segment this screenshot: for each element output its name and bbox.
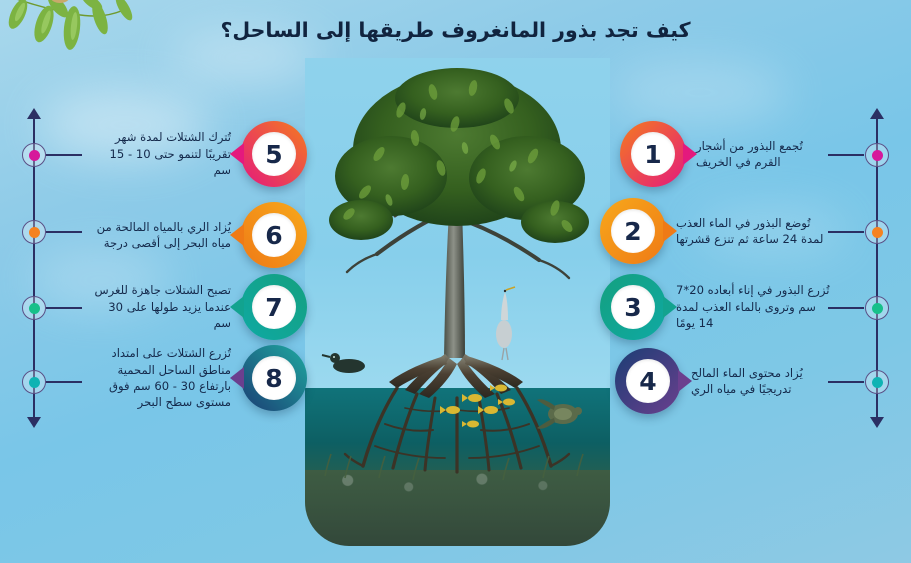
badge-tail — [663, 296, 677, 318]
step-description: تُوضع البذور في الماء العذب لمدة 24 ساعة… — [666, 215, 832, 248]
step-number: 8 — [252, 356, 296, 400]
axis-node-7[interactable] — [22, 296, 46, 320]
axis-node-1[interactable] — [865, 143, 889, 167]
heron-bird — [496, 287, 515, 360]
step-number: 3 — [611, 285, 655, 329]
step-item-5[interactable]: 5 تُترك الشتلات لمدة شهر تقريبًا لتنمو ح… — [92, 121, 307, 187]
step-description: تُزرع الشتلات على امتداد مناطق الساحل ال… — [92, 345, 241, 411]
badge-tail — [230, 367, 244, 389]
step-item-1[interactable]: تُجمع البذور من أشجار القرم في الخريف 1 — [620, 121, 832, 187]
badge-tail — [678, 370, 692, 392]
axis-arrow-up-icon — [870, 108, 884, 119]
step-item-7[interactable]: 7 تصبح الشتلات جاهزة للغرس عندما يزيد طو… — [92, 274, 307, 340]
badge-tail — [683, 143, 697, 165]
sea-turtle — [537, 399, 582, 429]
step-item-8[interactable]: 8 تُزرع الشتلات على امتداد مناطق الساحل … — [92, 345, 307, 411]
step-number: 4 — [626, 359, 670, 403]
corner-leaves-decoration — [0, 0, 190, 84]
step-number: 1 — [631, 132, 675, 176]
step-description: تُجمع البذور من أشجار القرم في الخريف — [686, 138, 832, 171]
step-item-6[interactable]: 6 يُزاد الري بالمياه المالحة من مياه الب… — [92, 202, 307, 268]
axis-node-5[interactable] — [22, 143, 46, 167]
axis-node-4[interactable] — [865, 370, 889, 394]
step-item-4[interactable]: يُزاد محتوى الماء المالح تدريجيًا في ميا… — [615, 348, 832, 414]
badge-tail — [663, 220, 677, 242]
badge-tail — [230, 224, 244, 246]
axis-node-8[interactable] — [22, 370, 46, 394]
badge-tail — [230, 296, 244, 318]
connector-5 — [46, 154, 82, 156]
step-description: يُزاد الري بالمياه المالحة من مياه البحر… — [92, 219, 241, 252]
step-item-3[interactable]: تُزرع البذور في إناء أبعاده 20*7 سم وترو… — [600, 274, 832, 340]
axis-node-3[interactable] — [865, 296, 889, 320]
mangrove-vector — [305, 58, 610, 546]
step-description: تُزرع البذور في إناء أبعاده 20*7 سم وترو… — [666, 282, 832, 331]
step-number: 6 — [252, 213, 296, 257]
axis-arrow-up-icon — [27, 108, 41, 119]
step-item-2[interactable]: تُوضع البذور في الماء العذب لمدة 24 ساعة… — [600, 198, 832, 264]
axis-node-6[interactable] — [22, 220, 46, 244]
mangrove-illustration — [305, 58, 610, 546]
step-badge-8[interactable]: 8 — [241, 345, 307, 411]
step-badge-4[interactable]: 4 — [615, 348, 681, 414]
axis-arrow-down-icon — [27, 417, 41, 428]
step-description: تُترك الشتلات لمدة شهر تقريبًا لتنمو حتى… — [92, 129, 241, 178]
axis-node-2[interactable] — [865, 220, 889, 244]
right-timeline-axis — [860, 112, 894, 424]
step-badge-3[interactable]: 3 — [600, 274, 666, 340]
step-number: 2 — [611, 209, 655, 253]
step-number: 7 — [252, 285, 296, 329]
connector-2 — [828, 231, 864, 233]
step-description: يُزاد محتوى الماء المالح تدريجيًا في ميا… — [681, 365, 832, 398]
connector-8 — [46, 381, 82, 383]
badge-tail — [230, 143, 244, 165]
connector-3 — [828, 307, 864, 309]
connector-1 — [828, 154, 864, 156]
connector-7 — [46, 307, 82, 309]
step-number: 5 — [252, 132, 296, 176]
axis-arrow-down-icon — [870, 417, 884, 428]
connector-6 — [46, 231, 82, 233]
step-badge-2[interactable]: 2 — [600, 198, 666, 264]
cormorant-bird — [322, 353, 365, 373]
step-badge-1[interactable]: 1 — [620, 121, 686, 187]
step-badge-7[interactable]: 7 — [241, 274, 307, 340]
step-badge-5[interactable]: 5 — [241, 121, 307, 187]
step-description: تصبح الشتلات جاهزة للغرس عندما يزيد طوله… — [92, 282, 241, 331]
left-timeline-axis — [17, 112, 51, 424]
page-title: كيف تجد بذور المانغروف طريقها إلى الساحل… — [0, 18, 911, 42]
connector-4 — [828, 381, 864, 383]
step-badge-6[interactable]: 6 — [241, 202, 307, 268]
